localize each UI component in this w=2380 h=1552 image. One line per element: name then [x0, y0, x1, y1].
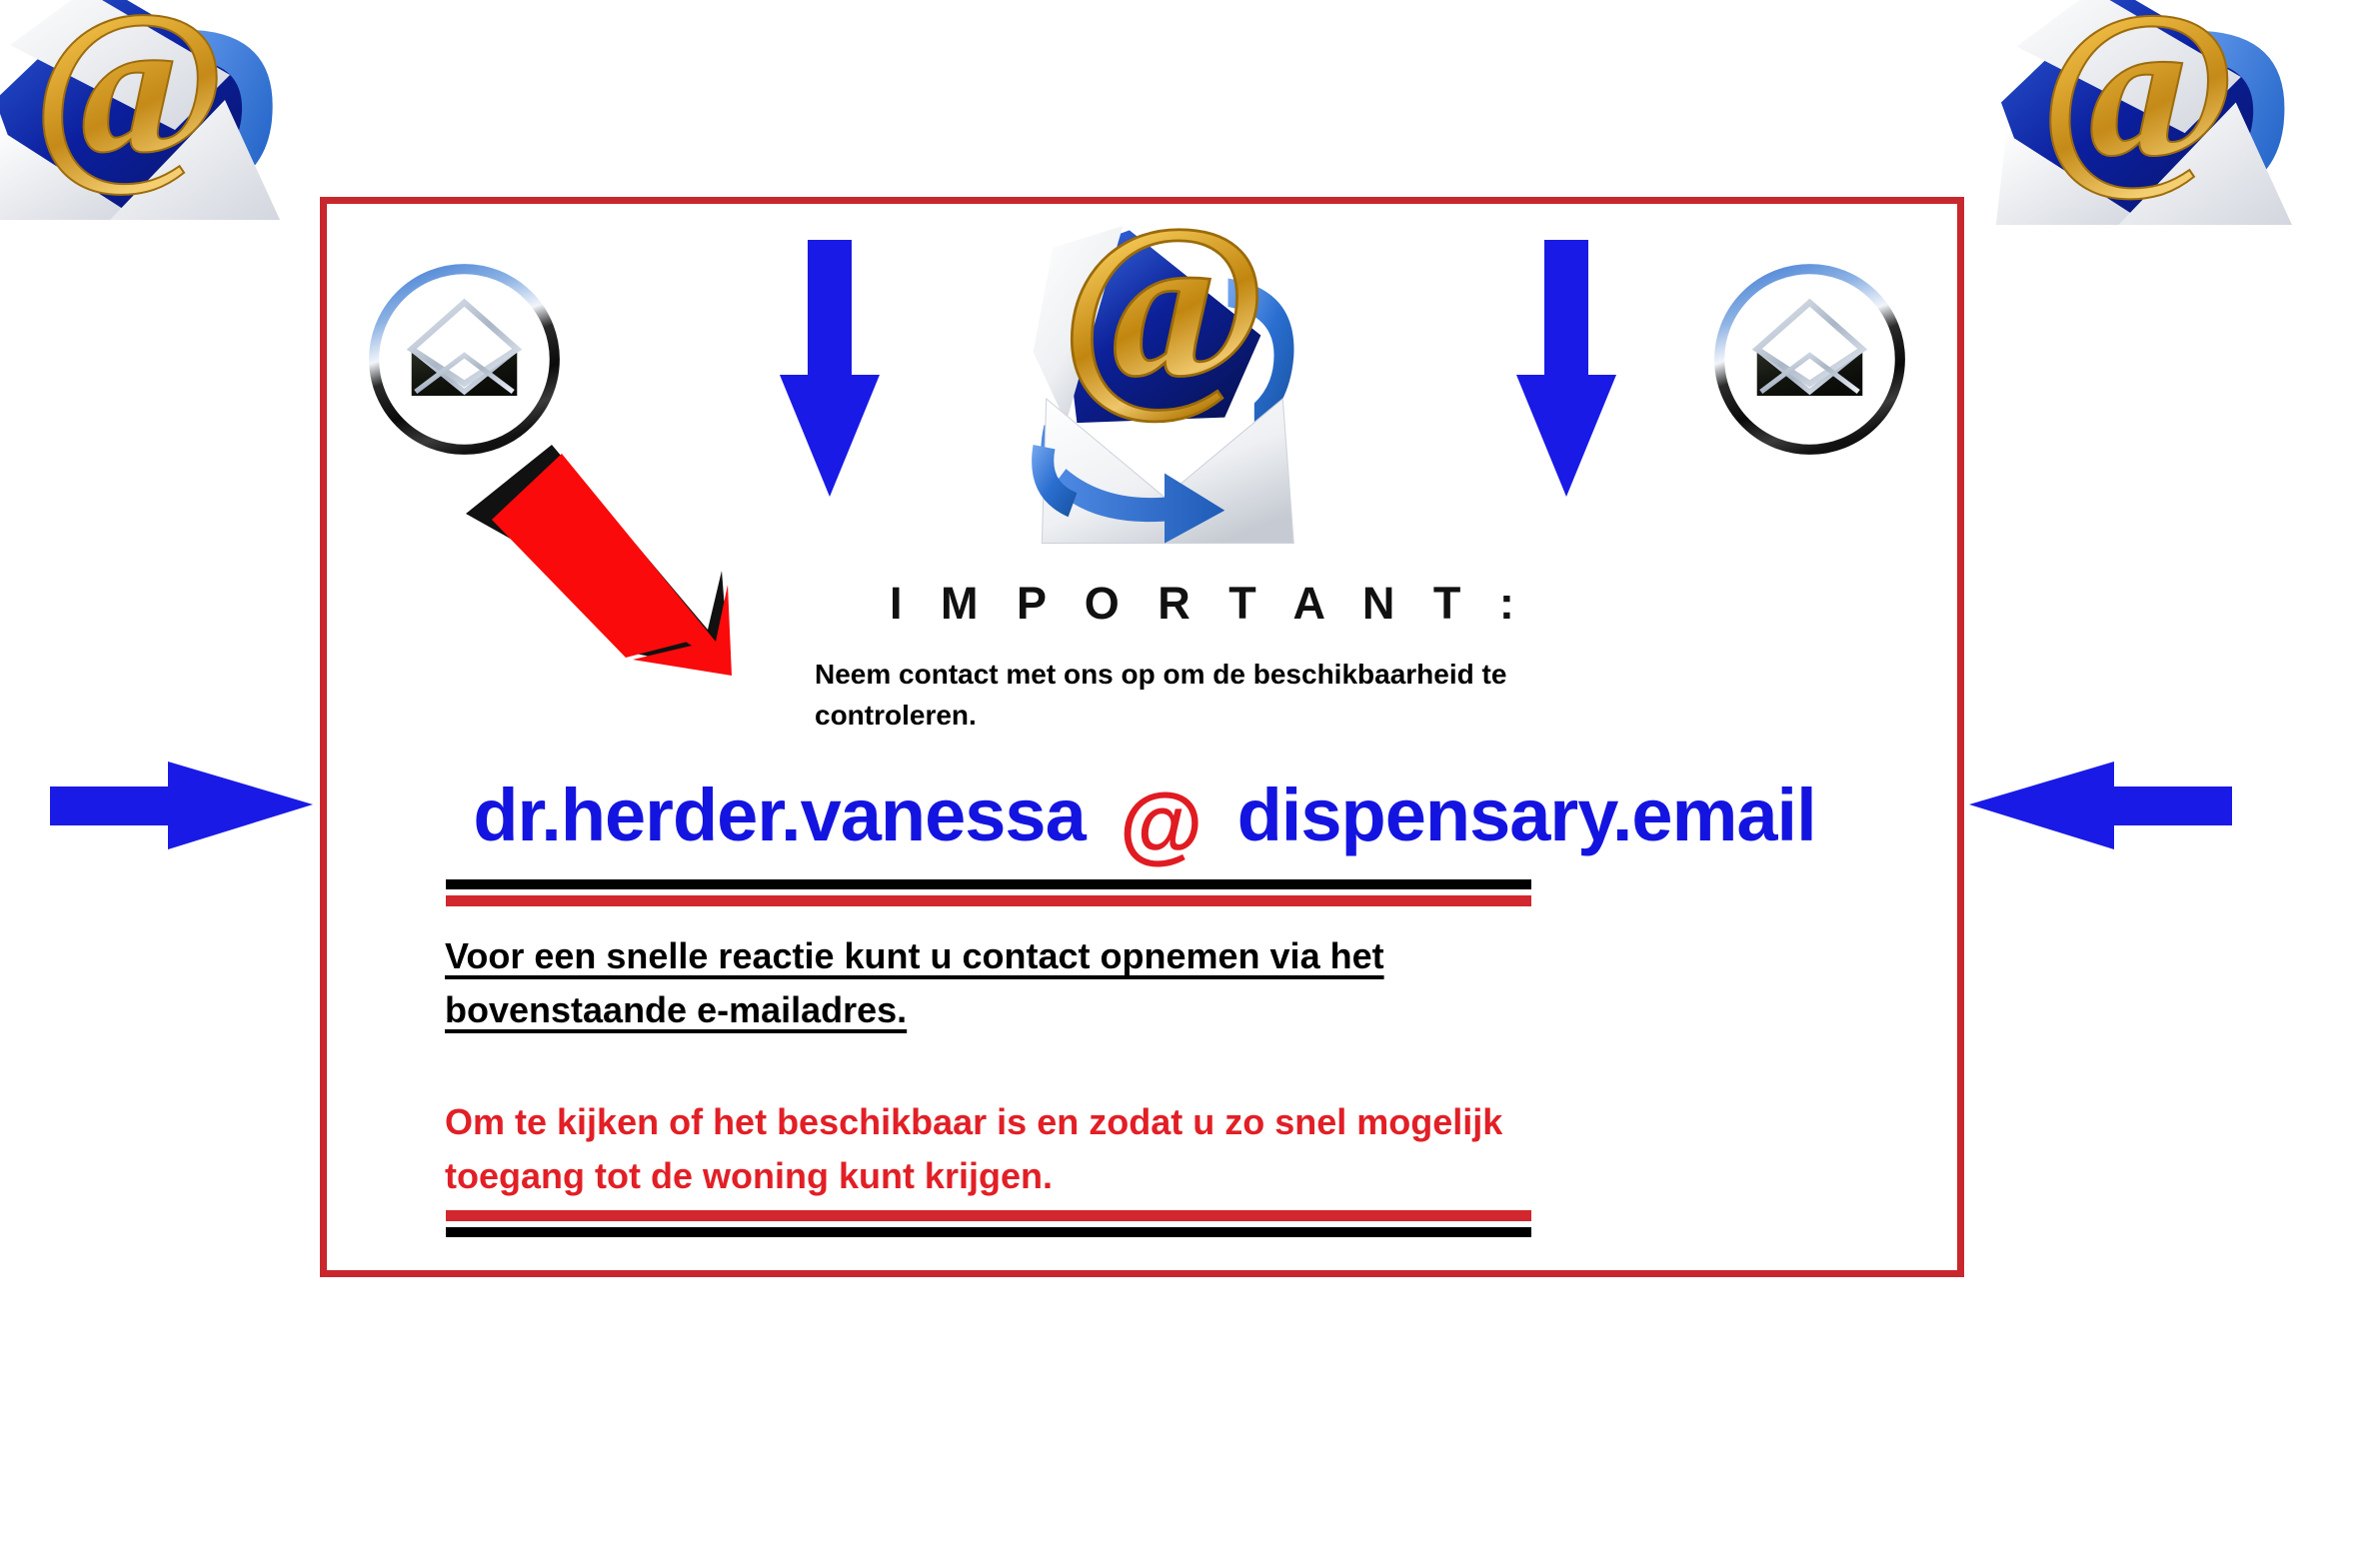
- important-heading: I M P O R T A N T :: [890, 578, 1527, 630]
- divider-bottom: [446, 1210, 1531, 1237]
- email-at-envelope-icon-top-right: @: [1994, 0, 2304, 225]
- blue-down-arrow-icon-right: [1511, 240, 1621, 500]
- availability-line-2: toegang tot de woning kunt krijgen.: [445, 1155, 1053, 1196]
- quick-reply-line-2: bovenstaande e-mailadres.: [445, 989, 907, 1030]
- blue-down-arrow-icon-left: [775, 240, 885, 500]
- divider-bottom-black-bar: [446, 1227, 1531, 1237]
- availability-instruction: Om te kijken of het beschikbaar is en zo…: [445, 1095, 1734, 1203]
- email-at-envelope-icon-top-left: @: [0, 0, 290, 220]
- at-symbol-icon: @: [1120, 781, 1203, 867]
- email-at-envelope-icon-center: @: [1000, 215, 1329, 560]
- circle-envelope-icon-right: [1708, 258, 1911, 461]
- quick-reply-instruction: Voor een snelle reactie kunt u contact o…: [445, 929, 1564, 1037]
- divider-bottom-red-bar: [446, 1210, 1531, 1221]
- divider-top-red-bar: [446, 895, 1531, 906]
- quick-reply-line-1: Voor een snelle reactie kunt u contact o…: [445, 935, 1384, 976]
- blue-right-arrow-icon: [50, 760, 315, 851]
- red-diagonal-arrow-icon: [440, 430, 760, 690]
- svg-text:@: @: [1061, 215, 1269, 428]
- svg-text:@: @: [32, 0, 227, 201]
- blue-left-arrow-icon: [1967, 760, 2232, 851]
- availability-line-1: Om te kijken of het beschikbaar is en zo…: [445, 1101, 1502, 1142]
- divider-top-black-bar: [446, 879, 1531, 889]
- contact-availability-note: Neem contact met ons op om de beschikbaa…: [815, 655, 1614, 736]
- email-domain-part[interactable]: dispensary.email: [1237, 773, 1816, 857]
- poster-canvas: @: [0, 0, 2380, 1552]
- email-address-row[interactable]: dr.herder.vanessa @ dispensary.email: [325, 755, 1964, 874]
- divider-top: [446, 879, 1531, 906]
- svg-text:@: @: [2039, 0, 2238, 206]
- email-local-part[interactable]: dr.herder.vanessa: [473, 773, 1085, 857]
